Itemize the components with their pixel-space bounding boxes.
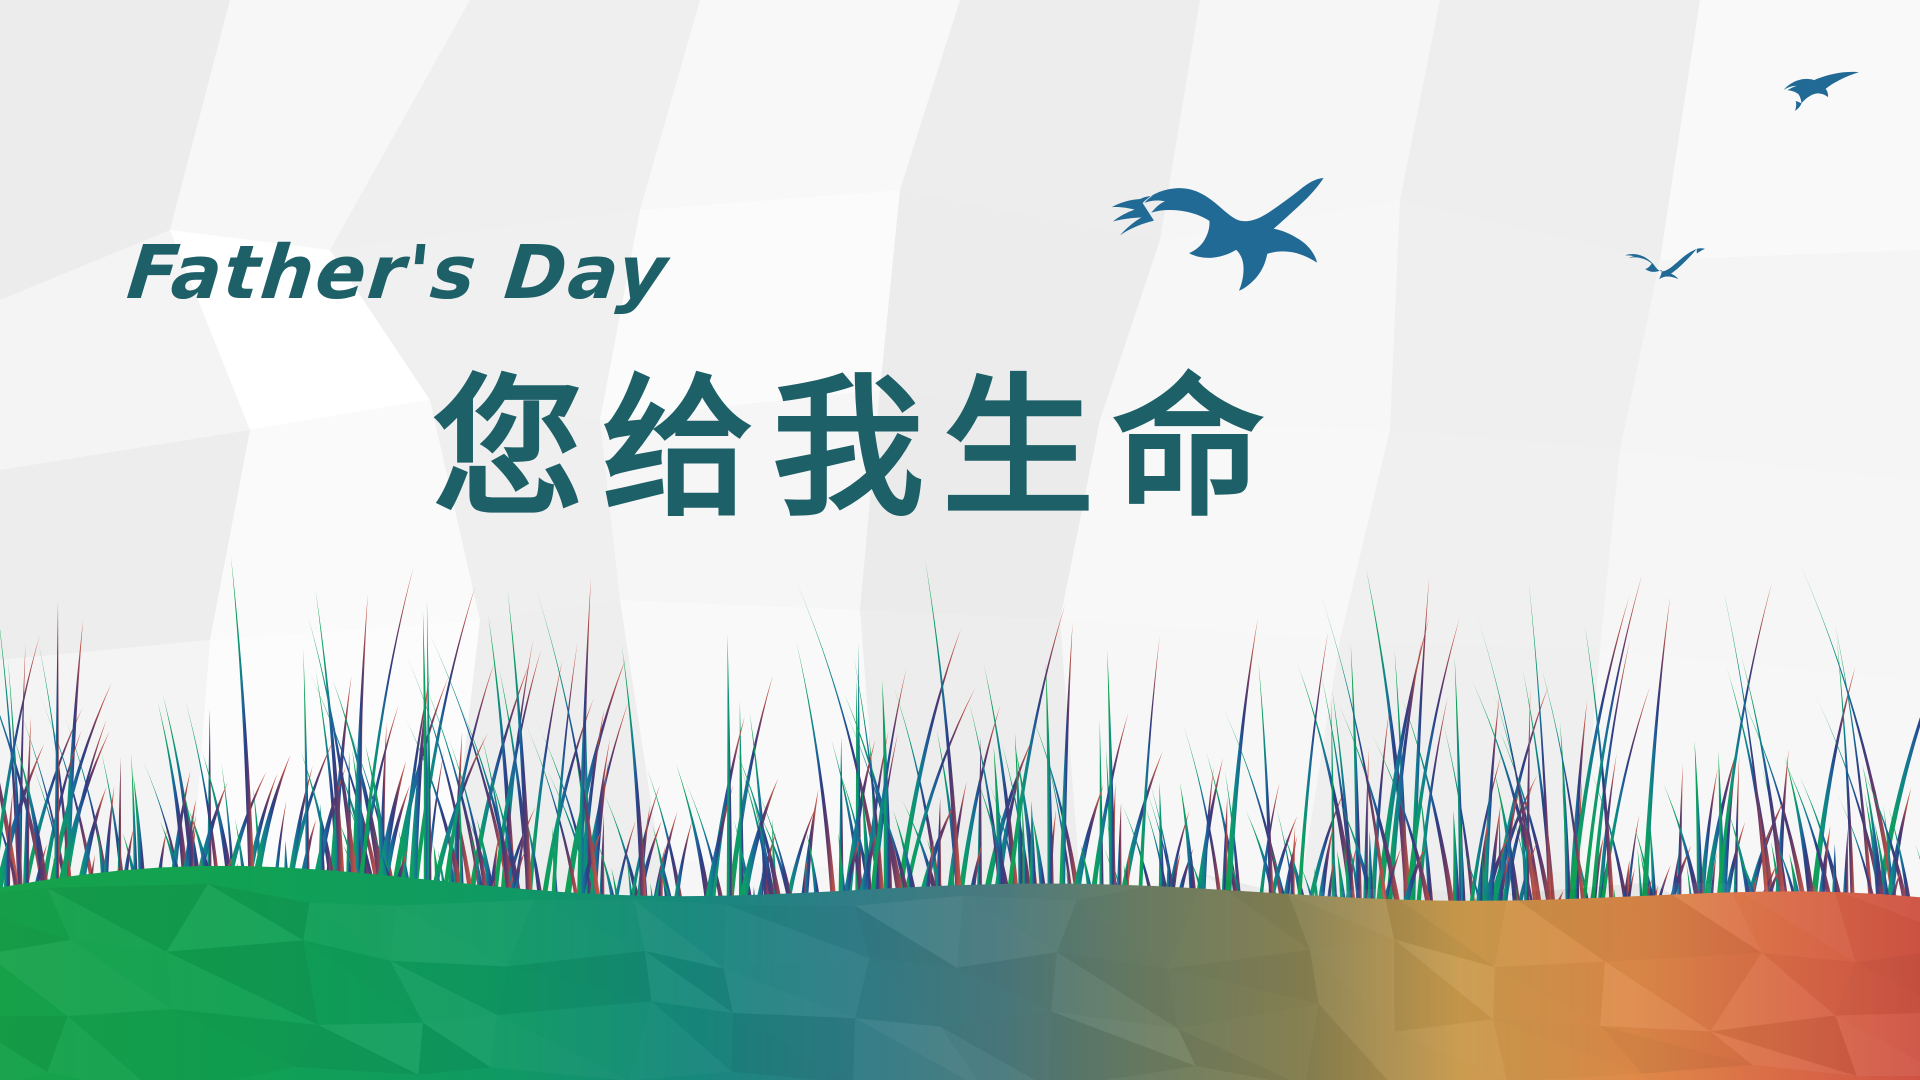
page-title-english: Father's Day — [124, 236, 672, 310]
page-title-chinese: 您给我生命 — [432, 352, 1282, 547]
fathers-day-poster: Father's Day 您给我生命 — [0, 0, 1920, 1080]
